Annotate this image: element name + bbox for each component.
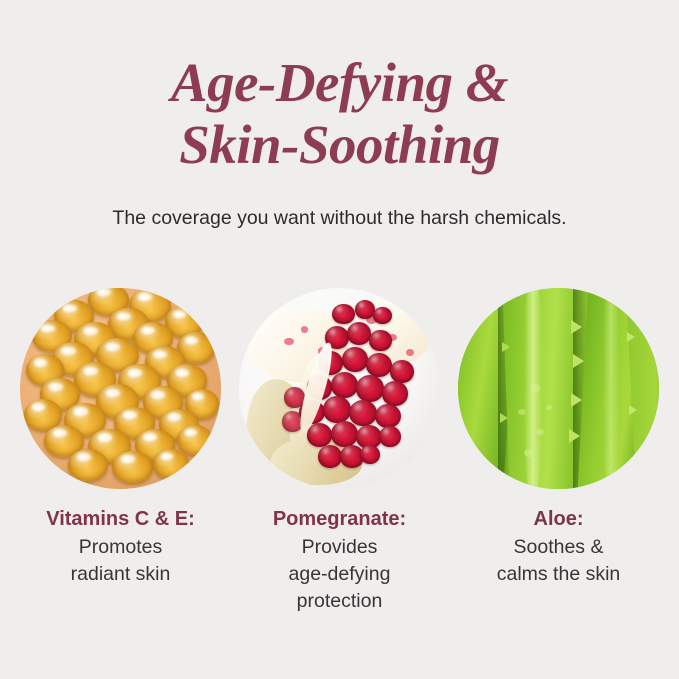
page-title: Age-Defying & Skin-Soothing — [0, 52, 679, 176]
ingredient-name: Vitamins C & E: — [13, 506, 228, 533]
ingredient-desc-line: protection — [232, 588, 447, 615]
ingredient-description: Soothes & calms the skin — [451, 534, 666, 588]
ingredient-desc-line: radiant skin — [13, 561, 228, 588]
ingredient-card-pomegranate: Pomegranate: Provides age-defying protec… — [237, 288, 442, 615]
ingredient-card-aloe: Aloe: Soothes & calms the skin — [456, 288, 661, 615]
ingredient-caption-aloe: Aloe: Soothes & calms the skin — [451, 506, 666, 588]
ingredient-desc-line: Provides — [232, 534, 447, 561]
page-subtitle: The coverage you want without the harsh … — [0, 205, 679, 231]
ingredient-name: Aloe: — [451, 506, 666, 533]
vitamin-softgel-capsules-photo — [20, 288, 221, 489]
ingredient-description: Provides age-defying protection — [232, 534, 447, 615]
ingredient-caption-pomegranate: Pomegranate: Provides age-defying protec… — [232, 506, 447, 615]
ingredient-name: Pomegranate: — [232, 506, 447, 533]
ingredients-row: Vitamins C & E: Promotes radiant skin — [0, 288, 679, 615]
pomegranate-body — [251, 296, 436, 485]
ingredient-card-vitamins: Vitamins C & E: Promotes radiant skin — [18, 288, 223, 615]
ingredient-desc-line: calms the skin — [451, 561, 666, 588]
ingredient-desc-line: Soothes & — [451, 534, 666, 561]
page-title-line-2: Skin-Soothing — [0, 114, 679, 176]
ingredient-description: Promotes radiant skin — [13, 534, 228, 588]
aloe-vera-leaves-photo — [458, 288, 659, 489]
pomegranate-fruit-photo — [239, 288, 440, 489]
ingredient-desc-line: Promotes — [13, 534, 228, 561]
ingredient-caption-vitamins: Vitamins C & E: Promotes radiant skin — [13, 506, 228, 588]
ingredient-desc-line: age-defying — [232, 561, 447, 588]
product-benefits-infographic: Age-Defying & Skin-Soothing The coverage… — [0, 0, 679, 679]
page-title-line-1: Age-Defying & — [0, 52, 679, 114]
